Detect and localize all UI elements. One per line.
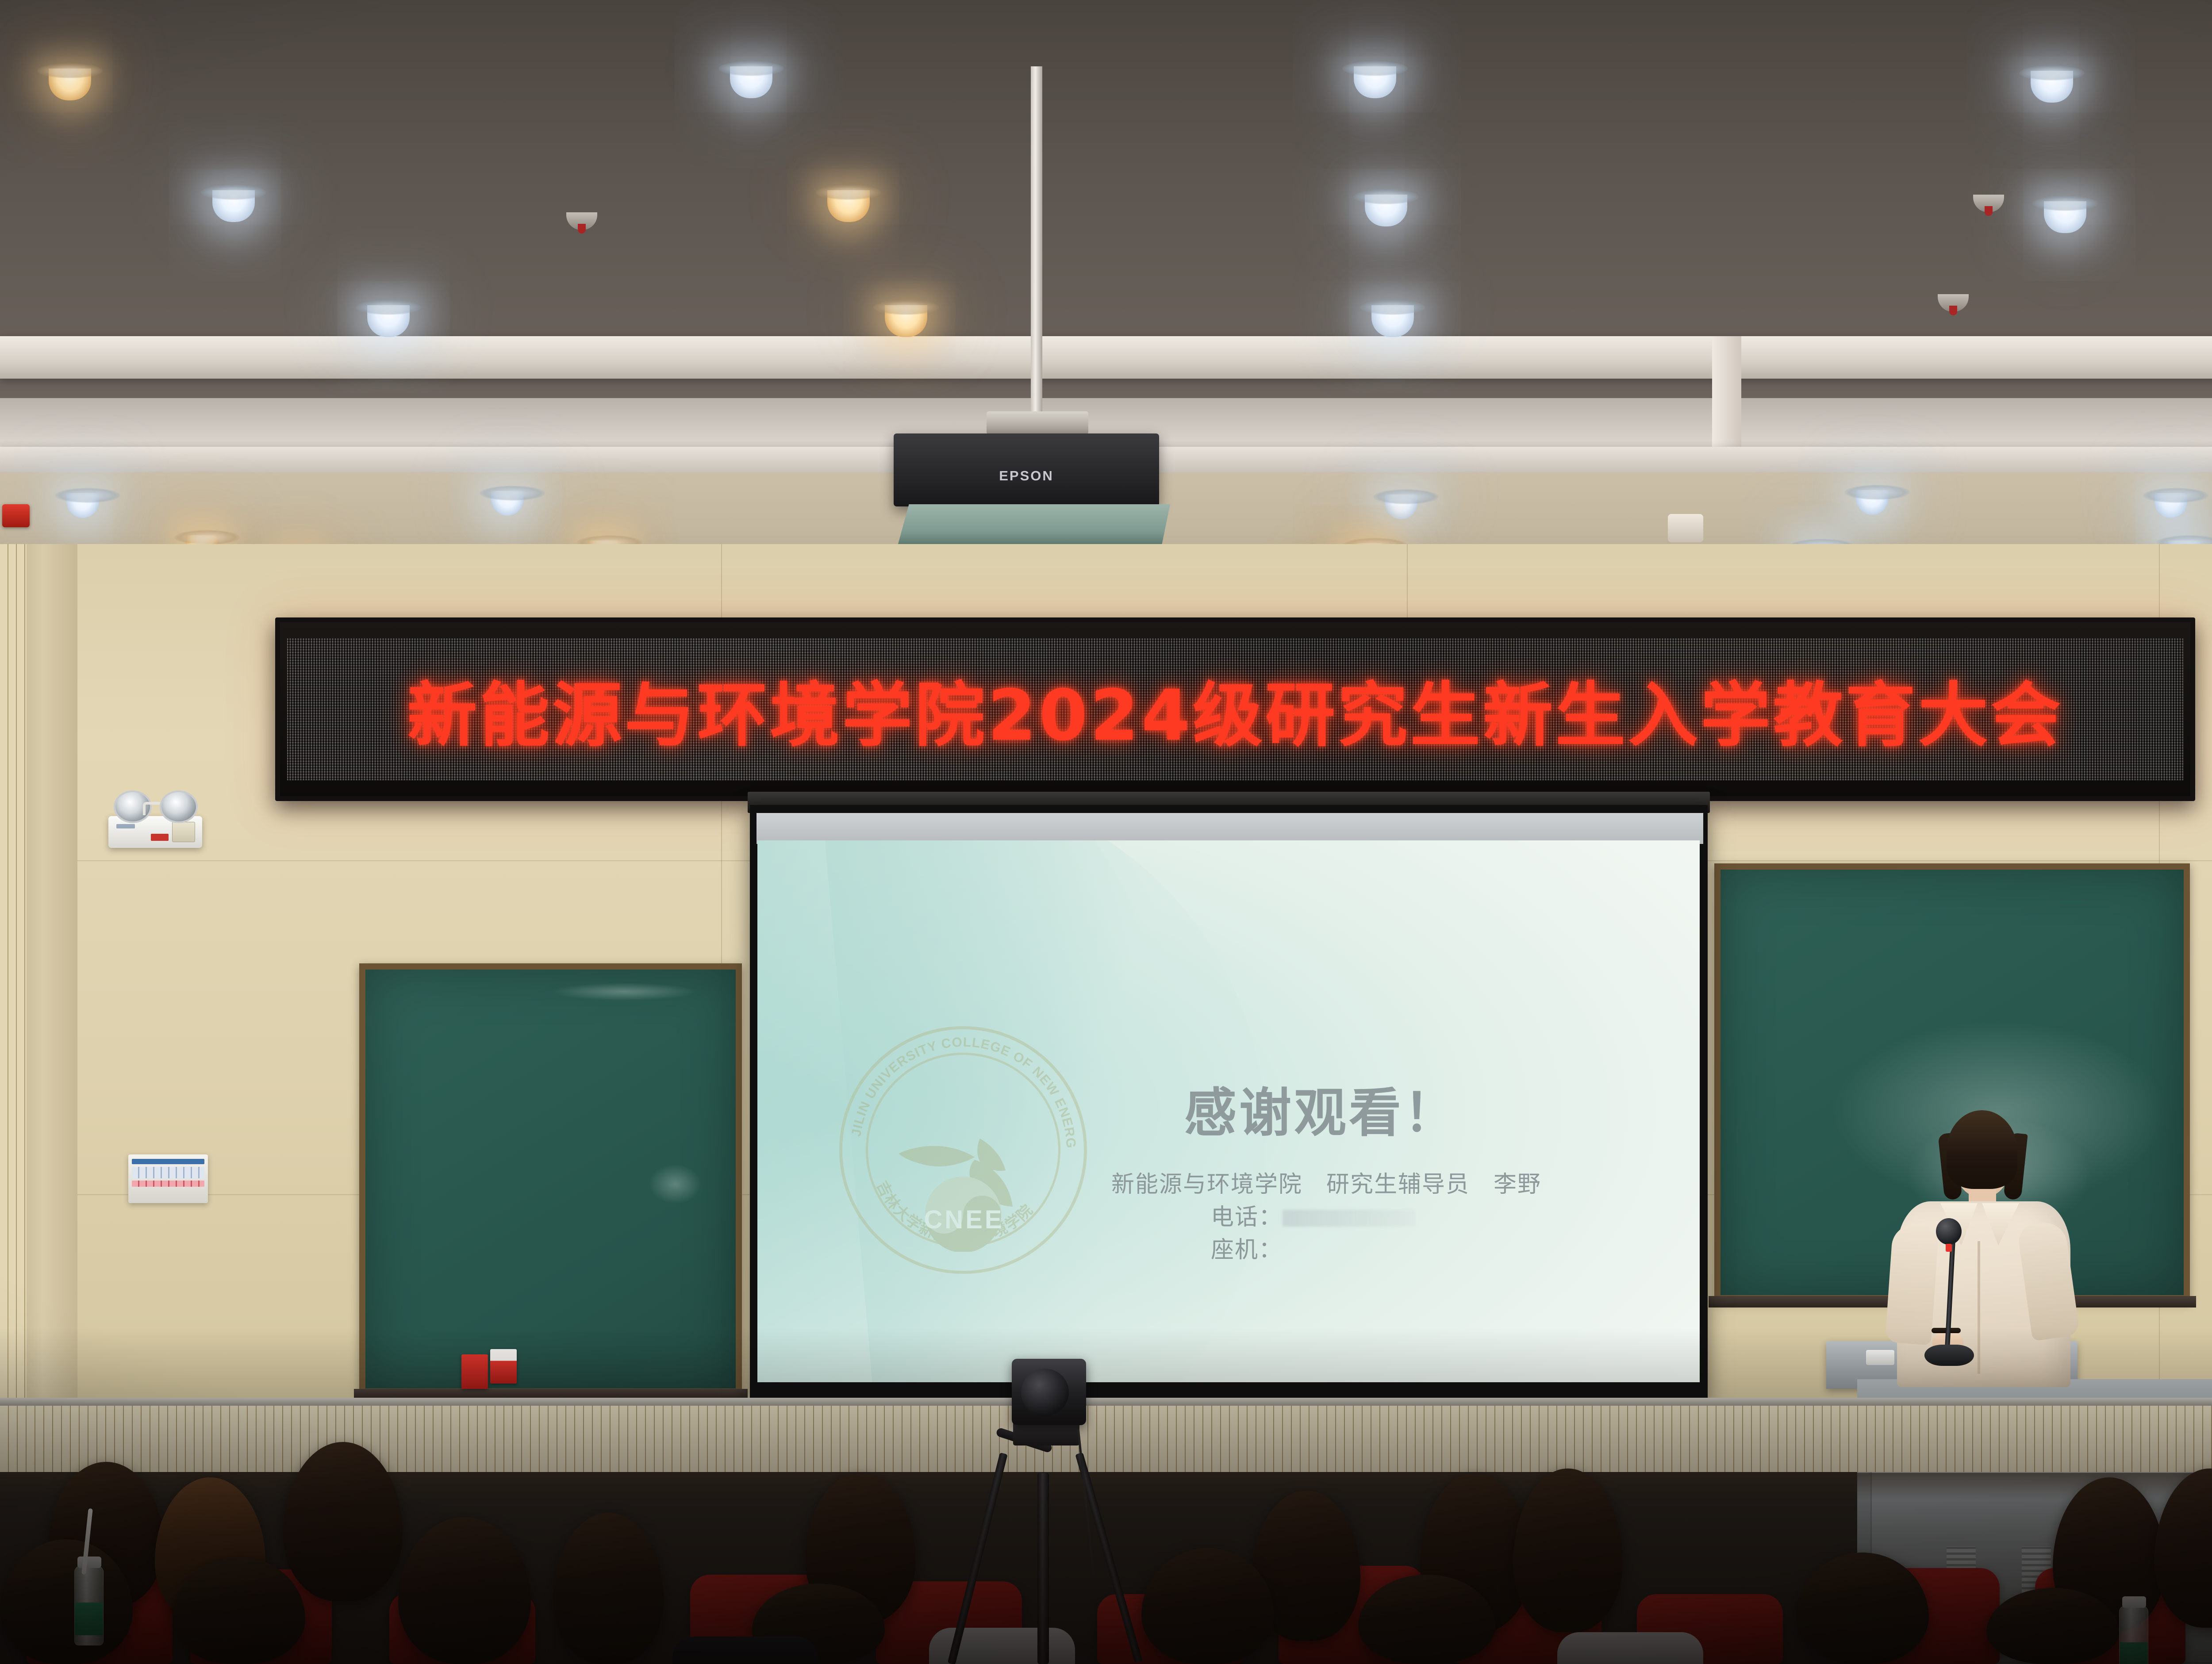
- slide-landline-line: 座机：: [1111, 1234, 1541, 1267]
- microphone-indicator: [1946, 1244, 1952, 1252]
- audience-head: [553, 1513, 664, 1664]
- projector-mount-pole: [1031, 66, 1042, 420]
- slide-landline-label: 座机：: [1211, 1237, 1283, 1263]
- camera-lens-icon: [1021, 1369, 1069, 1416]
- tripod-center-column: [1037, 1473, 1049, 1664]
- presenter-hair: [1947, 1110, 2017, 1189]
- ceiling-speaker-icon: [1668, 514, 1703, 542]
- breaker-panel-header: [132, 1159, 204, 1164]
- water-bottle-cap: [77, 1557, 101, 1568]
- presenter-arm-left: [1885, 1223, 1939, 1346]
- chalk-smudge: [551, 983, 697, 1001]
- chalk-box[interactable]: [461, 1354, 488, 1389]
- projector-bracket: [987, 411, 1088, 434]
- led-banner: 新能源与环境学院2024级研究生新生入学教育大会: [275, 617, 2195, 801]
- breaker-switch-row[interactable]: [132, 1167, 204, 1178]
- chalk-smudge: [649, 1164, 702, 1204]
- microphone-head-icon: [1936, 1218, 1962, 1245]
- led-banner-screen: 新能源与环境学院2024级研究生新生入学教育大会: [287, 638, 2183, 780]
- slide-phone-label: 电话：: [1211, 1204, 1283, 1231]
- projector: EPSON: [894, 433, 1159, 506]
- emergency-light-handle: [143, 802, 170, 815]
- emergency-light-indicator: [151, 834, 169, 841]
- fire-alarm-icon: [2, 504, 30, 527]
- slide-org-line: 新能源与环境学院 研究生辅导员 李野: [1111, 1171, 1541, 1198]
- presentation-slide: JILIN UNIVERSITY COLLEGE OF NEW ENERGY A…: [757, 840, 1700, 1382]
- chalkboard-left: [359, 963, 742, 1395]
- wall-slat-panel-left: [0, 544, 27, 1433]
- audience-shoulders: [672, 1637, 818, 1664]
- water-bottle-cap: [2122, 1596, 2146, 1608]
- audience-shoulders: [1557, 1632, 1703, 1664]
- lecture-hall-photo: EPSON 新能源与环境学院2024级研究生新生入学教育大会: [0, 0, 2212, 1664]
- crest-acronym: CNEE: [920, 1205, 1008, 1235]
- slide-phone-line: 电话：: [1111, 1201, 1541, 1234]
- projector-brand-label: EPSON: [999, 468, 1054, 484]
- slide-phone-redacted: [1283, 1210, 1415, 1227]
- college-crest-logo: JILIN UNIVERSITY COLLEGE OF NEW ENERGY A…: [839, 1026, 1087, 1274]
- electrical-breaker-panel[interactable]: [128, 1154, 208, 1203]
- emergency-light-test-panel: [172, 822, 195, 842]
- water-bottle-label: [75, 1603, 103, 1635]
- projection-screen-top-band: [757, 813, 1703, 844]
- breaker-label-row: [132, 1181, 204, 1187]
- ceiling-beam-front: [0, 336, 2212, 379]
- water-bottle[interactable]: [2119, 1606, 2148, 1664]
- microphone-base[interactable]: [1924, 1345, 1974, 1366]
- presenter-shirt-placket: [1978, 1241, 1980, 1374]
- water-bottle[interactable]: [74, 1566, 104, 1645]
- presenter: [1879, 1110, 2078, 1384]
- audience-head: [398, 1517, 531, 1664]
- slide-title: 感谢观看！: [1184, 1070, 1459, 1146]
- emergency-light-icon: [108, 816, 202, 848]
- led-banner-text: 新能源与环境学院2024级研究生新生入学教育大会: [407, 659, 2063, 760]
- projector-lens-housing: [898, 504, 1170, 544]
- water-bottle-label: [2120, 1642, 2148, 1664]
- slide-subtitle-block: 新能源与环境学院 研究生辅导员 李野 电话： 座机：: [1111, 1169, 1541, 1266]
- chalk-box-open[interactable]: [490, 1349, 517, 1384]
- emergency-light-brand-mark: [116, 824, 135, 828]
